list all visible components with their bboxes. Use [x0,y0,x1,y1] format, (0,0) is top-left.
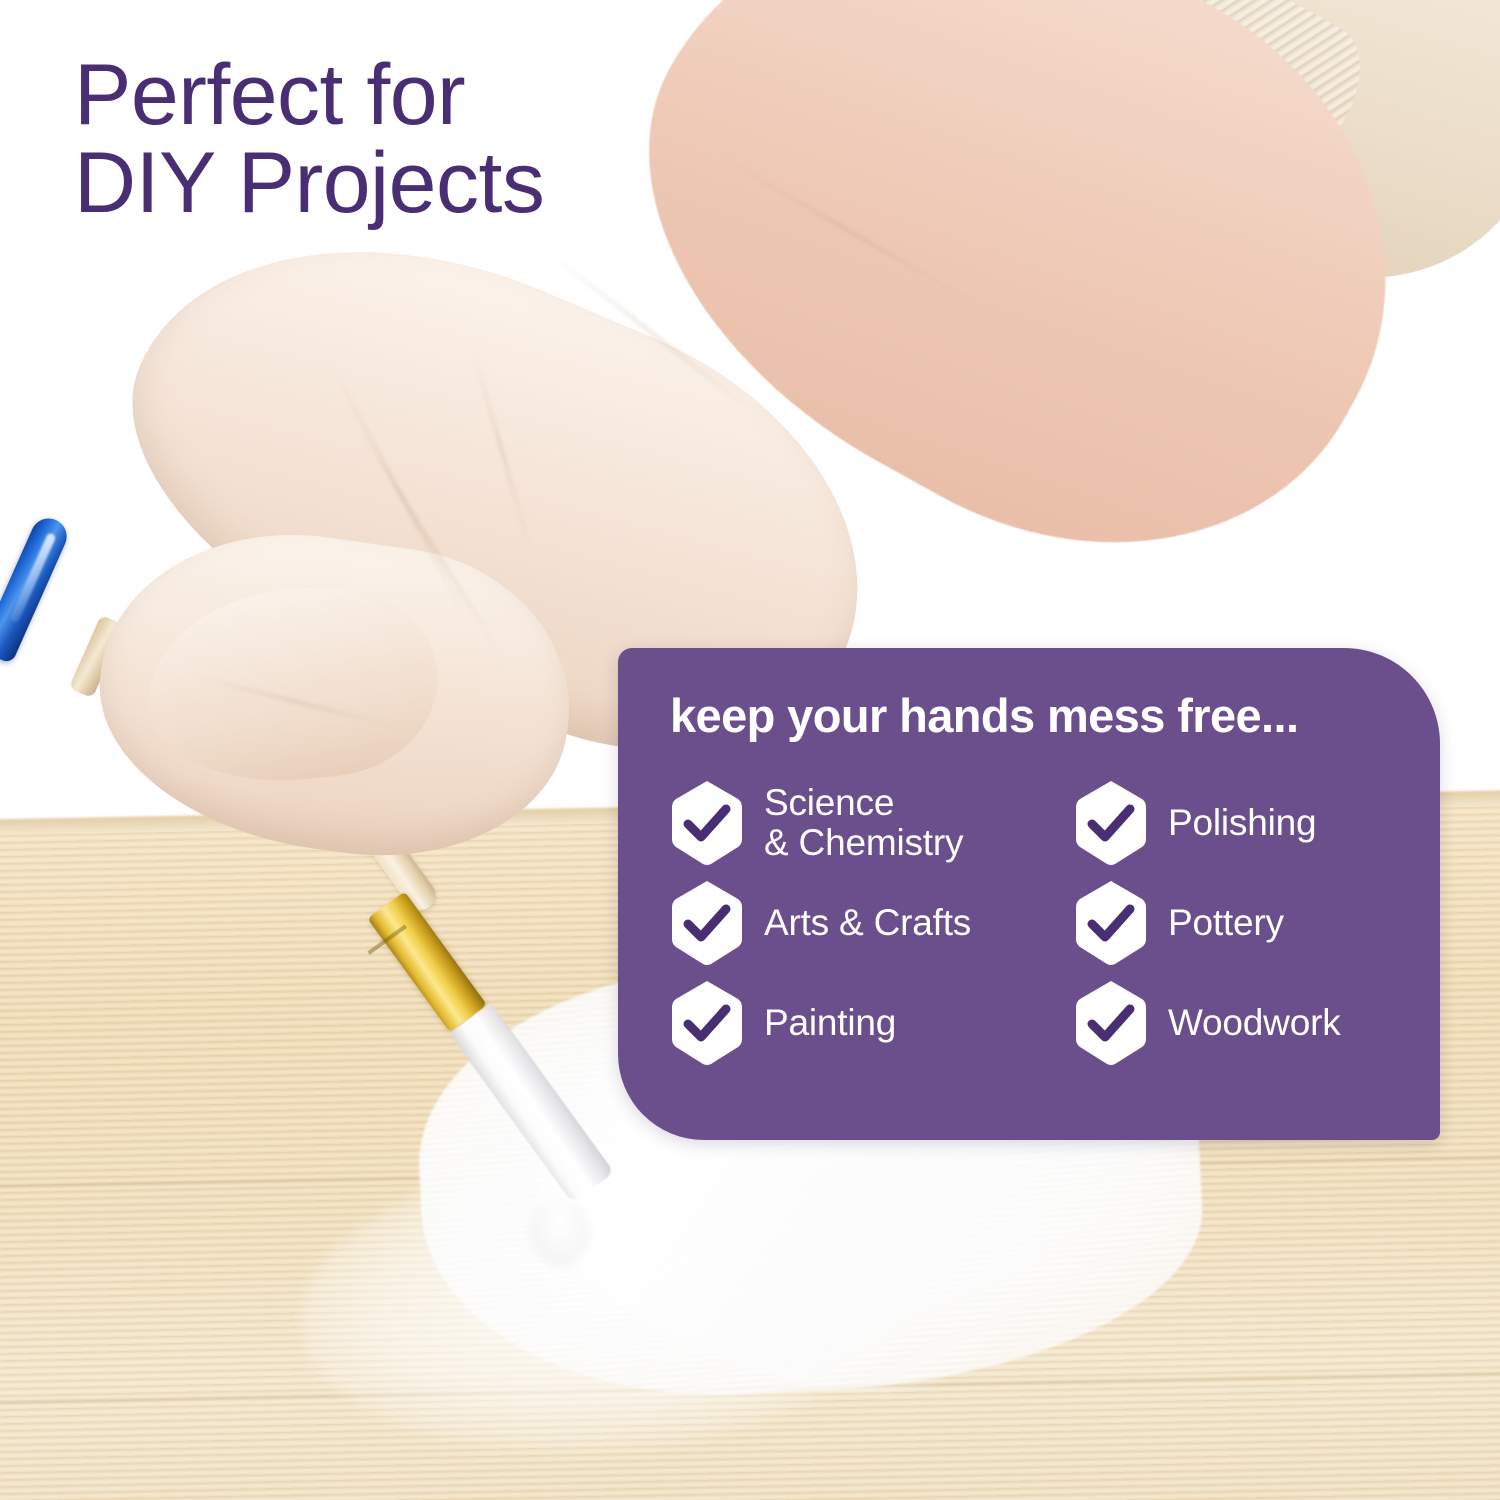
check-hexagon-icon [1074,879,1148,967]
check-hexagon-icon [670,979,744,1067]
feature-label: Painting [764,1003,896,1043]
brush-gold-ferrule [367,891,487,1031]
feature-item-woodwork: Woodwork [1074,979,1440,1067]
feature-label: Pottery [1168,903,1284,943]
features-card: keep your hands mess free... Science & C… [618,648,1440,1140]
feature-item-science-chemistry: Science & Chemistry [670,779,1074,867]
check-hexagon-icon [670,879,744,967]
feature-item-pottery: Pottery [1074,879,1440,967]
check-hexagon-icon [670,779,744,867]
feature-item-painting: Painting [670,979,1074,1067]
feature-label: Woodwork [1168,1003,1341,1043]
feature-label: Arts & Crafts [764,903,971,943]
features-checklist: Science & Chemistry Polishing Arts & Cra… [670,773,1440,1073]
check-hexagon-icon [1074,979,1148,1067]
feature-item-arts-crafts: Arts & Crafts [670,879,1074,967]
blue-pen-cap [0,513,72,665]
feature-item-polishing: Polishing [1074,779,1440,867]
brush-tip-paint [530,1200,590,1266]
headline: Perfect for DIY Projects [74,52,544,227]
feature-label: Polishing [1168,803,1316,843]
feature-label: Science & Chemistry [764,783,963,863]
product-marketing-image: Perfect for DIY Projects keep your hands… [0,0,1500,1500]
card-title: keep your hands mess free... [670,692,1440,739]
check-hexagon-icon [1074,779,1148,867]
brush-bristles [449,1003,615,1203]
